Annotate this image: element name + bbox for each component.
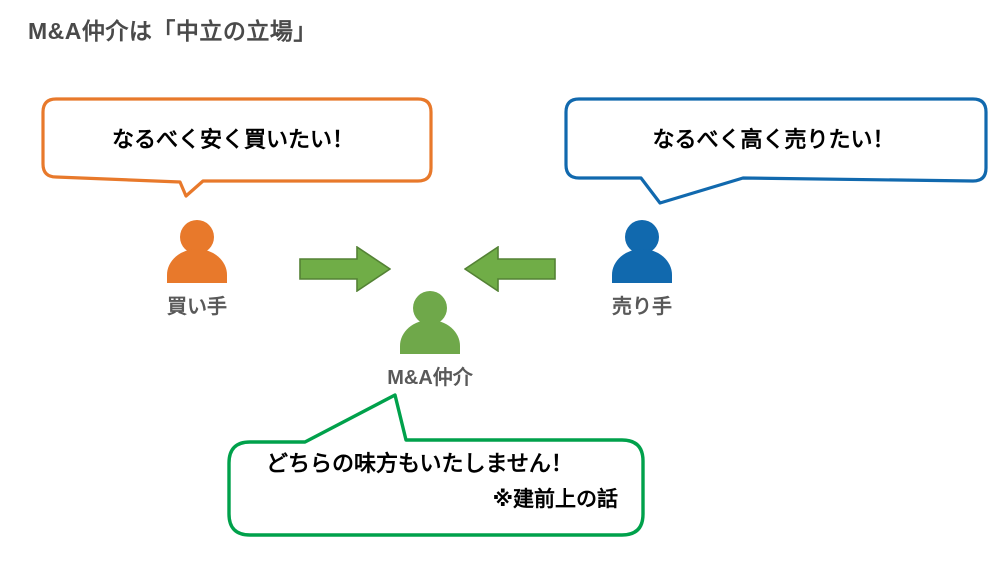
speech-balloon-broker-text: どちらの味方もいたしません！ ※建前上の話	[226, 450, 646, 513]
person-icon-buyer	[161, 219, 233, 283]
person-broker: M&A仲介	[378, 290, 482, 390]
person-seller: 売り手	[590, 219, 694, 319]
person-icon-seller	[606, 219, 678, 283]
arrow-left-icon	[464, 246, 556, 292]
speech-balloon-seller-text: なるべく高く売りたい！	[563, 126, 990, 154]
arrow-buyer-to-broker	[299, 246, 391, 292]
person-icon-broker	[394, 290, 466, 354]
person-buyer-label: 買い手	[145, 290, 249, 319]
page-title: M&A仲介は「中立の立場」	[28, 12, 317, 46]
speech-balloon-buyer: なるべく安く買いたい！	[40, 96, 434, 201]
speech-balloon-broker: どちらの味方もいたしません！ ※建前上の話	[226, 388, 646, 540]
arrow-seller-to-broker	[464, 246, 556, 292]
person-buyer: 買い手	[145, 219, 249, 319]
person-broker-label: M&A仲介	[378, 361, 482, 390]
speech-balloon-seller: なるべく高く売りたい！	[563, 96, 990, 208]
arrow-right-icon	[299, 246, 391, 292]
slide-canvas: M&A仲介は「中立の立場」 なるべく安く買いたい！ なるべく高く売りたい！ どち…	[0, 0, 1000, 562]
speech-balloon-buyer-text: なるべく安く買いたい！	[40, 126, 434, 154]
person-seller-label: 売り手	[590, 290, 694, 319]
